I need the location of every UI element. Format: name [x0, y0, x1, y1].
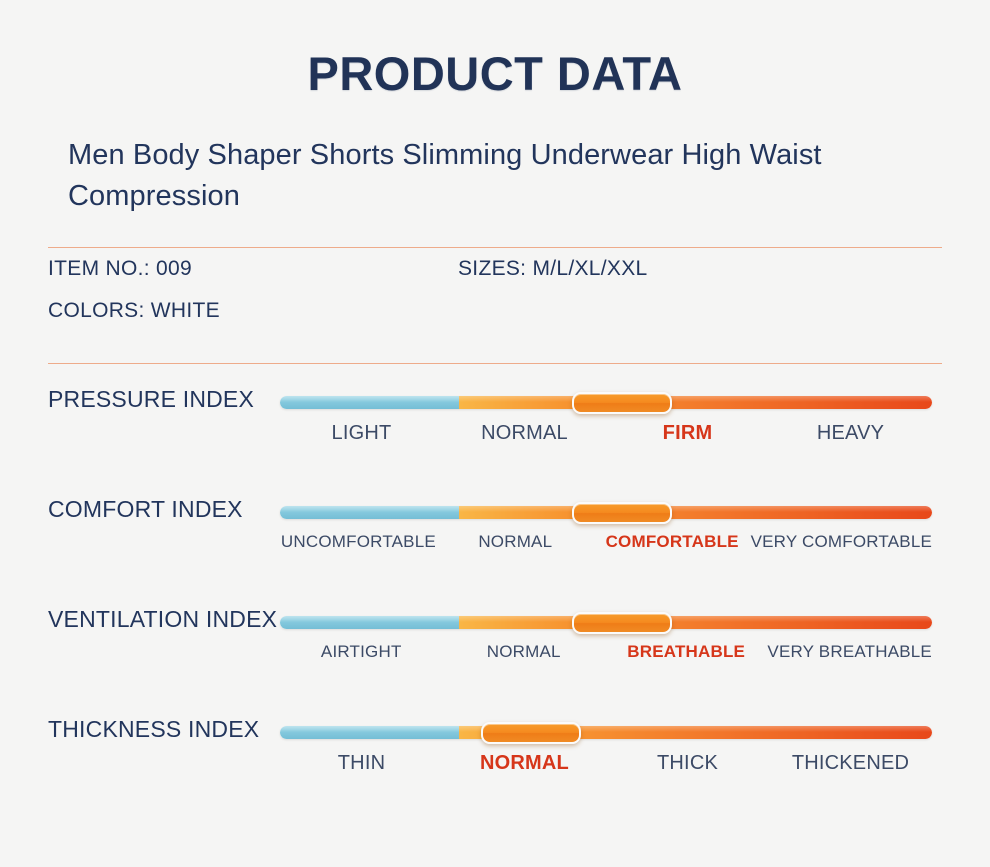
index-row-inner: COMFORT INDEXUNCOMFORTABLENORMALCOMFORTA…: [48, 492, 942, 602]
index-row-ventilation-index: VENTILATION INDEXAIRTIGHTNORMALBREATHABL…: [0, 602, 990, 712]
tick-label-very-comfortable[interactable]: VERY COMFORTABLE: [751, 532, 932, 552]
tick-label-normal[interactable]: NORMAL: [442, 642, 604, 662]
index-label-comfort-index: COMFORT INDEX: [48, 496, 243, 523]
tick-label-thick[interactable]: THICK: [606, 752, 769, 775]
slider-thumb-thickness-index[interactable]: [481, 722, 581, 744]
index-row-thickness-index: THICKNESS INDEXTHINNORMALTHICKTHICKENED: [0, 712, 990, 822]
tick-label-heavy[interactable]: HEAVY: [769, 422, 932, 445]
tick-label-normal[interactable]: NORMAL: [443, 752, 606, 775]
meta-row-second: COLORS: WHITE: [48, 290, 942, 332]
slider-tick-labels: AIRTIGHTNORMALBREATHABLEVERY BREATHABLE: [280, 642, 932, 662]
tick-label-airtight[interactable]: AIRTIGHT: [280, 642, 442, 662]
track-segment-low: [280, 506, 459, 519]
slider-track[interactable]: [280, 726, 932, 739]
index-row-inner: PRESSURE INDEXLIGHTNORMALFIRMHEAVY: [48, 382, 942, 492]
product-subtitle: Men Body Shaper Shorts Slimming Underwea…: [0, 101, 868, 217]
tick-label-thin[interactable]: THIN: [280, 752, 443, 775]
slider-thumb-comfort-index[interactable]: [572, 502, 672, 524]
track-segment-high: [459, 616, 932, 629]
sizes: SIZES: M/L/XL/XXL: [458, 257, 648, 281]
index-row-pressure-index: PRESSURE INDEXLIGHTNORMALFIRMHEAVY: [0, 382, 990, 492]
slider-tick-labels: UNCOMFORTABLENORMALCOMFORTABLEVERY COMFO…: [280, 532, 932, 552]
product-meta: ITEM NO.: 009 SIZES: M/L/XL/XXL COLORS: …: [0, 248, 990, 332]
tick-label-firm[interactable]: FIRM: [606, 422, 769, 445]
tick-label-light[interactable]: LIGHT: [280, 422, 443, 445]
tick-label-normal[interactable]: NORMAL: [443, 422, 606, 445]
slider-thumb-ventilation-index[interactable]: [572, 612, 672, 634]
track-segment-low: [280, 616, 459, 629]
tick-label-very-breathable[interactable]: VERY BREATHABLE: [767, 642, 932, 662]
slider-pressure-index[interactable]: [280, 392, 932, 414]
slider-tick-labels: LIGHTNORMALFIRMHEAVY: [280, 422, 932, 445]
tick-label-thickened[interactable]: THICKENED: [769, 752, 932, 775]
tick-label-uncomfortable[interactable]: UNCOMFORTABLE: [280, 532, 437, 552]
track-segment-high: [459, 506, 932, 519]
product-data-infographic: PRODUCT DATA Men Body Shaper Shorts Slim…: [0, 0, 990, 867]
index-row-comfort-index: COMFORT INDEXUNCOMFORTABLENORMALCOMFORTA…: [0, 492, 990, 602]
index-rows: PRESSURE INDEXLIGHTNORMALFIRMHEAVYCOMFOR…: [0, 364, 990, 822]
slider-thickness-index[interactable]: [280, 722, 932, 744]
track-segment-low: [280, 396, 459, 409]
colors: COLORS: WHITE: [48, 299, 458, 323]
index-row-inner: VENTILATION INDEXAIRTIGHTNORMALBREATHABL…: [48, 602, 942, 712]
tick-label-comfortable[interactable]: COMFORTABLE: [594, 532, 751, 552]
index-row-inner: THICKNESS INDEXTHINNORMALTHICKTHICKENED: [48, 712, 942, 822]
slider-comfort-index[interactable]: [280, 502, 932, 524]
index-label-pressure-index: PRESSURE INDEX: [48, 386, 254, 413]
track-segment-high: [459, 396, 932, 409]
item-number: ITEM NO.: 009: [48, 257, 458, 281]
slider-ventilation-index[interactable]: [280, 612, 932, 634]
tick-label-breathable[interactable]: BREATHABLE: [605, 642, 767, 662]
meta-row-first: ITEM NO.: 009 SIZES: M/L/XL/XXL: [48, 248, 942, 290]
slider-tick-labels: THINNORMALTHICKTHICKENED: [280, 752, 932, 775]
tick-label-normal[interactable]: NORMAL: [437, 532, 594, 552]
track-segment-low: [280, 726, 459, 739]
page-title: PRODUCT DATA: [0, 0, 990, 101]
slider-thumb-pressure-index[interactable]: [572, 392, 672, 414]
index-label-ventilation-index: VENTILATION INDEX: [48, 606, 277, 633]
index-label-thickness-index: THICKNESS INDEX: [48, 716, 259, 743]
